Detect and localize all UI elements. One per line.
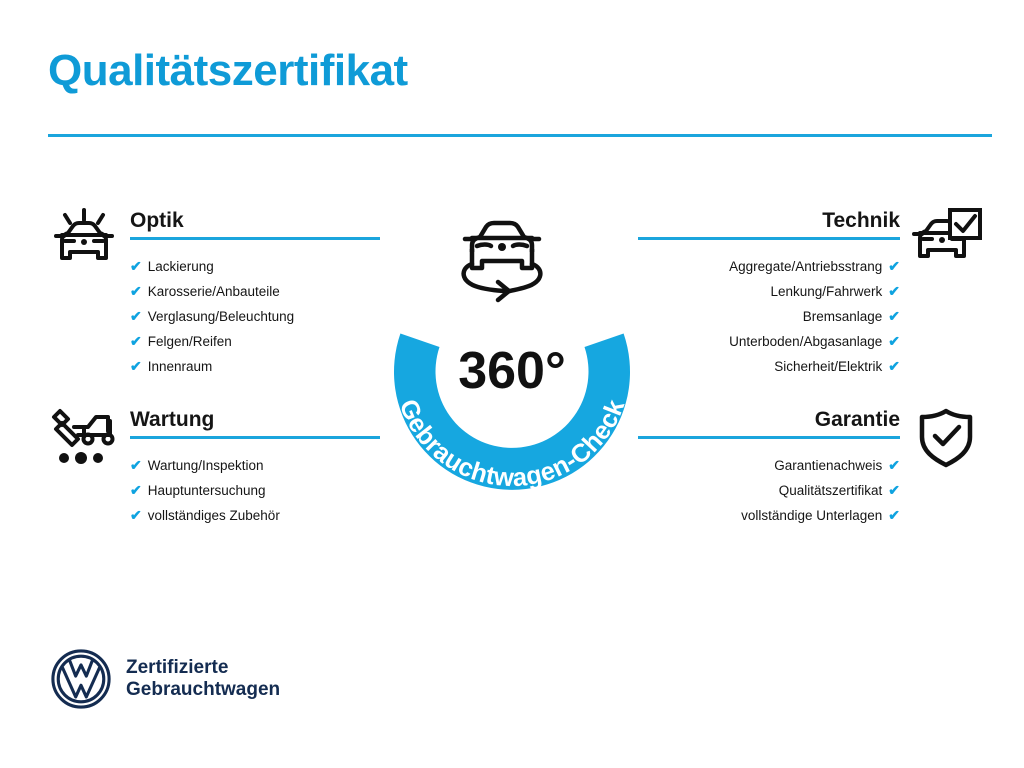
list-item-label: Bremsanlage xyxy=(803,309,883,324)
list-item: ✔Karosserie/Anbauteile xyxy=(130,279,380,304)
section-rule-garantie xyxy=(638,436,900,439)
list-item-label: Karosserie/Anbauteile xyxy=(148,284,280,299)
check-icon: ✔ xyxy=(888,329,900,353)
check-icon: ✔ xyxy=(888,453,900,477)
badge-360-gebrauchtwagen-check: Gebrauchtwagen-Check 360° xyxy=(372,198,652,494)
section-title-wartung: Wartung xyxy=(130,407,380,436)
section-title-technik: Technik xyxy=(638,208,900,237)
list-item: Qualitätszertifikat✔ xyxy=(638,478,900,503)
check-icon: ✔ xyxy=(130,279,142,303)
section-rule-wartung xyxy=(130,436,380,439)
list-item: ✔Verglasung/Beleuchtung xyxy=(130,304,380,329)
vw-logo-icon xyxy=(50,648,112,710)
list-item: Bremsanlage✔ xyxy=(638,304,900,329)
list-item: ✔Innenraum xyxy=(130,354,380,379)
list-item: Unterboden/Abgasanlage✔ xyxy=(638,329,900,354)
car-checkbox-icon xyxy=(910,208,982,270)
car-shine-icon xyxy=(48,208,120,270)
list-item-label: Sicherheit/Elektrik xyxy=(774,359,882,374)
list-item-label: Innenraum xyxy=(148,359,213,374)
list-item: ✔vollständiges Zubehör xyxy=(130,503,380,528)
list-item: ✔Wartung/Inspektion xyxy=(130,453,380,478)
check-icon: ✔ xyxy=(130,503,142,527)
footer-logo-line1: Zertifizierte xyxy=(126,657,280,679)
check-icon: ✔ xyxy=(130,254,142,278)
shield-check-icon xyxy=(910,407,982,469)
check-icon: ✔ xyxy=(130,478,142,502)
section-rule-optik xyxy=(130,237,380,240)
list-item: Aggregate/Antriebsstrang✔ xyxy=(638,254,900,279)
footer-logo-text: Zertifizierte Gebrauchtwagen xyxy=(126,657,280,702)
badge-center-label: 360° xyxy=(458,342,566,400)
check-icon: ✔ xyxy=(888,254,900,278)
list-item: Garantienachweis✔ xyxy=(638,453,900,478)
list-item-label: Wartung/Inspektion xyxy=(148,458,264,473)
list-item-label: vollständige Unterlagen xyxy=(741,508,882,523)
check-icon: ✔ xyxy=(130,354,142,378)
list-item-label: Garantienachweis xyxy=(774,458,882,473)
check-icon: ✔ xyxy=(130,304,142,328)
list-item: ✔Lackierung xyxy=(130,254,380,279)
list-item-label: Unterboden/Abgasanlage xyxy=(729,334,882,349)
check-icon: ✔ xyxy=(888,478,900,502)
list-item-label: Felgen/Reifen xyxy=(148,334,232,349)
checklist-optik: ✔Lackierung ✔Karosserie/Anbauteile ✔Verg… xyxy=(130,254,380,379)
section-title-garantie: Garantie xyxy=(638,407,900,436)
list-item-label: vollständiges Zubehör xyxy=(148,508,280,523)
check-icon: ✔ xyxy=(888,304,900,328)
wrench-car-icon xyxy=(48,407,120,469)
checklist-technik: Aggregate/Antriebsstrang✔ Lenkung/Fahrwe… xyxy=(638,254,900,379)
check-icon: ✔ xyxy=(888,279,900,303)
list-item: ✔Hauptuntersuchung xyxy=(130,478,380,503)
car-rotation-icon xyxy=(464,223,541,300)
check-icon: ✔ xyxy=(888,503,900,527)
check-icon: ✔ xyxy=(130,453,142,477)
section-rule-technik xyxy=(638,237,900,240)
check-icon: ✔ xyxy=(130,329,142,353)
footer-logo-line2: Gebrauchtwagen xyxy=(126,679,280,701)
list-item-label: Verglasung/Beleuchtung xyxy=(148,309,294,324)
list-item: vollständige Unterlagen✔ xyxy=(638,503,900,528)
footer-logo: Zertifizierte Gebrauchtwagen xyxy=(50,648,280,710)
page-title: Qualitätszertifikat xyxy=(48,47,408,95)
list-item-label: Qualitätszertifikat xyxy=(779,483,883,498)
title-divider xyxy=(48,134,992,137)
list-item-label: Aggregate/Antriebsstrang xyxy=(729,259,882,274)
list-item: ✔Felgen/Reifen xyxy=(130,329,380,354)
list-item-label: Hauptuntersuchung xyxy=(148,483,266,498)
list-item: Lenkung/Fahrwerk✔ xyxy=(638,279,900,304)
checklist-wartung: ✔Wartung/Inspektion ✔Hauptuntersuchung ✔… xyxy=(130,453,380,528)
checklist-garantie: Garantienachweis✔ Qualitätszertifikat✔ v… xyxy=(638,453,900,528)
section-title-optik: Optik xyxy=(130,208,380,237)
list-item-label: Lenkung/Fahrwerk xyxy=(770,284,882,299)
check-icon: ✔ xyxy=(888,354,900,378)
list-item-label: Lackierung xyxy=(148,259,214,274)
list-item: Sicherheit/Elektrik✔ xyxy=(638,354,900,379)
